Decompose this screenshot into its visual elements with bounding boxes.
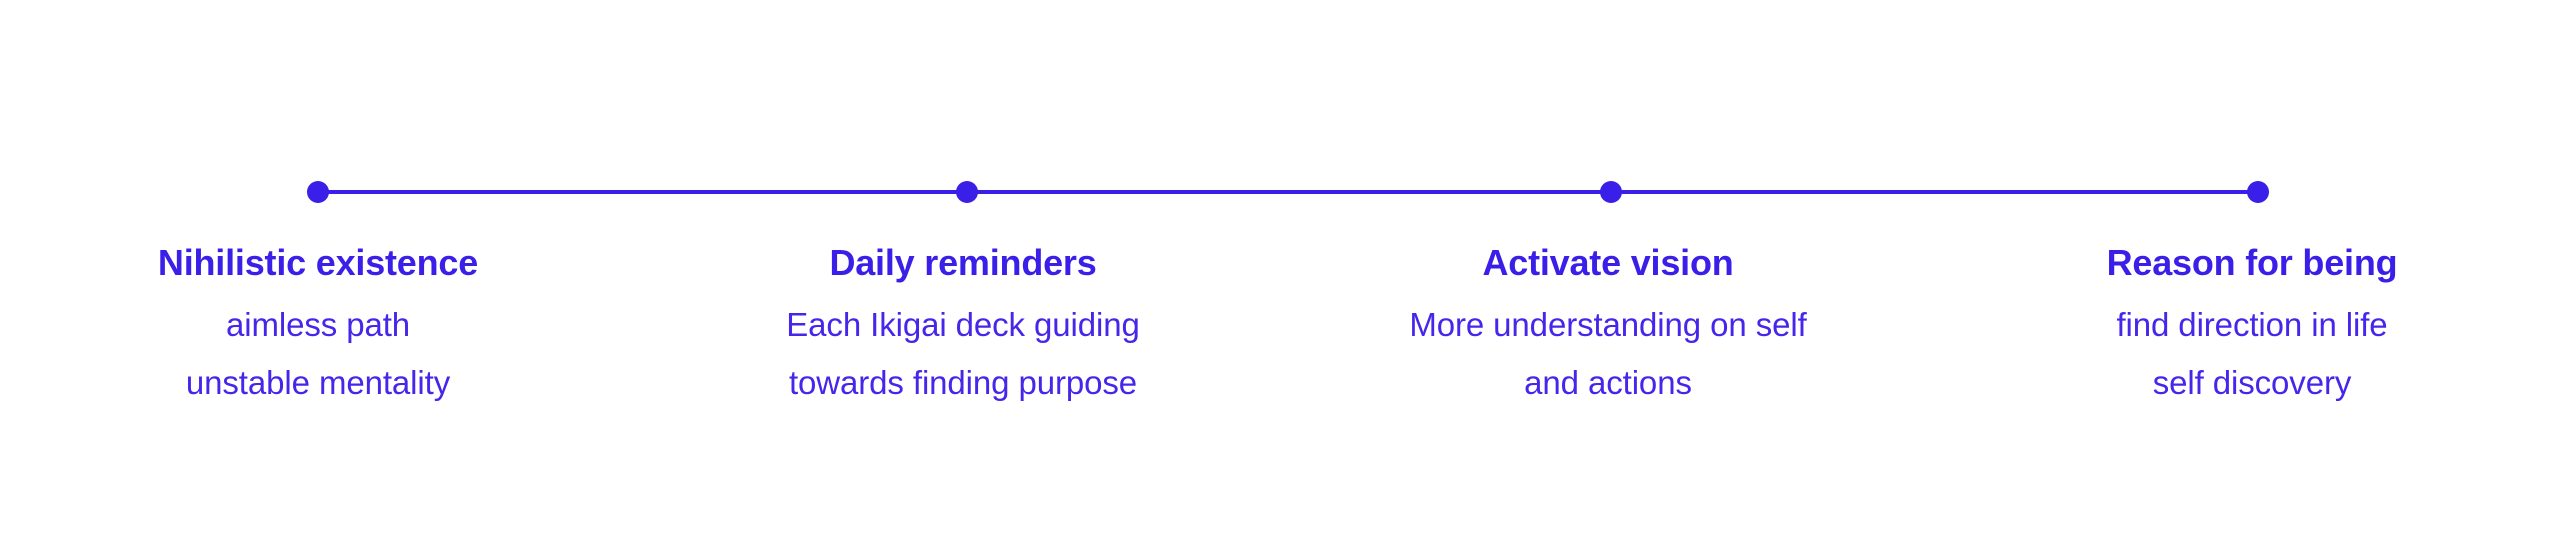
timeline-milestone-2: Daily reminders Each Ikigai deck guiding…	[683, 240, 1243, 412]
milestone-description-line: aimless path	[38, 296, 598, 354]
timeline-labels-layer: Nihilistic existence aimless path unstab…	[0, 0, 2560, 559]
milestone-description-2: Each Ikigai deck guiding towards finding…	[683, 296, 1243, 412]
milestone-description-4: find direction in life self discovery	[1972, 296, 2532, 412]
timeline-milestone-1: Nihilistic existence aimless path unstab…	[38, 240, 598, 412]
milestone-title-2: Daily reminders	[683, 240, 1243, 286]
ikigai-timeline-figure: Nihilistic existence aimless path unstab…	[0, 0, 2560, 559]
milestone-description-line: find direction in life	[1972, 296, 2532, 354]
milestone-description-line: Each Ikigai deck guiding	[683, 296, 1243, 354]
milestone-description-line: unstable mentality	[38, 354, 598, 412]
milestone-description-line: More understanding on self	[1328, 296, 1888, 354]
milestone-description-3: More understanding on self and actions	[1328, 296, 1888, 412]
timeline-milestone-4: Reason for being find direction in life …	[1972, 240, 2532, 412]
timeline-milestone-3: Activate vision More understanding on se…	[1328, 240, 1888, 412]
milestone-description-line: towards finding purpose	[683, 354, 1243, 412]
milestone-description-line: self discovery	[1972, 354, 2532, 412]
milestone-title-3: Activate vision	[1328, 240, 1888, 286]
milestone-description-1: aimless path unstable mentality	[38, 296, 598, 412]
milestone-title-1: Nihilistic existence	[38, 240, 598, 286]
milestone-title-4: Reason for being	[1972, 240, 2532, 286]
milestone-description-line: and actions	[1328, 354, 1888, 412]
